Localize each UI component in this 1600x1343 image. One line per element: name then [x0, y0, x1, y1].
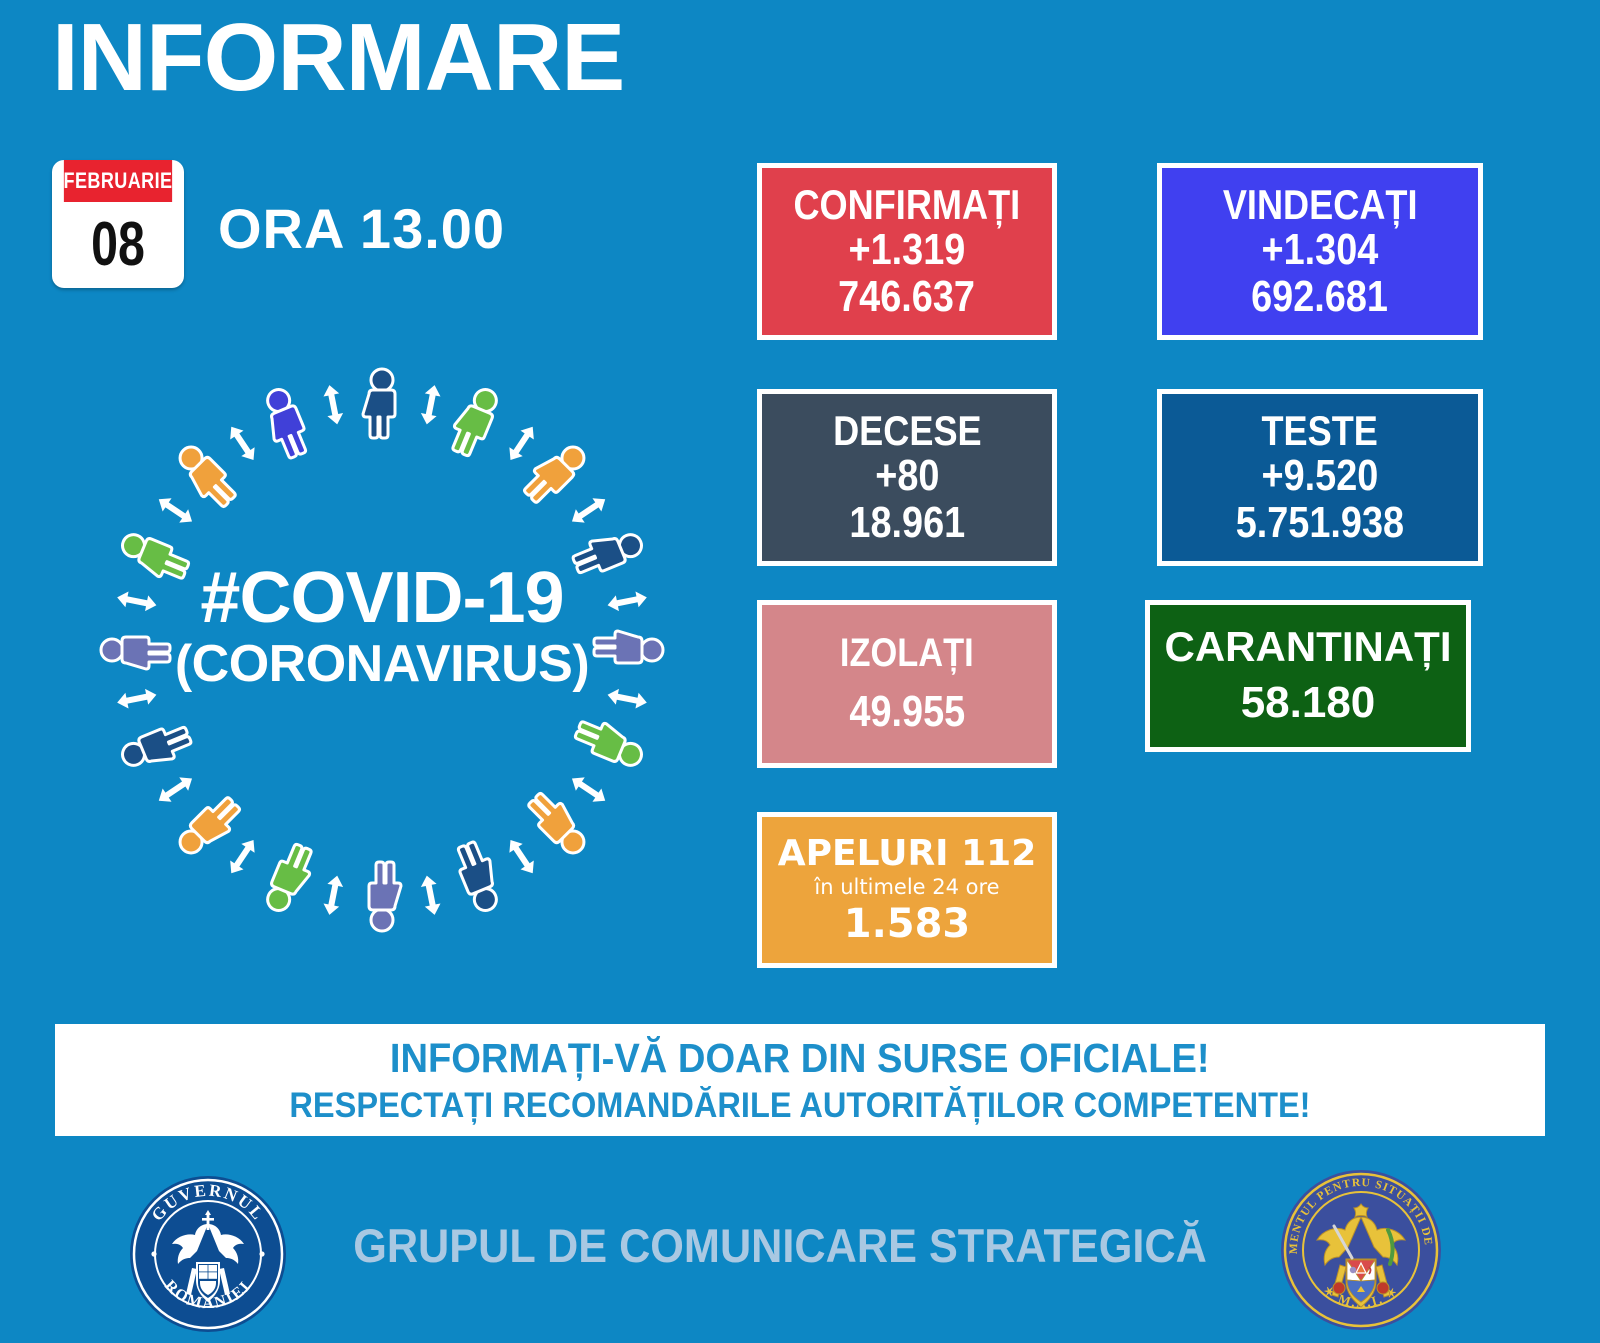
- infographic-page: INFORMARE FEBRUARIE 08 ORA 13.00: [0, 0, 1600, 1343]
- stat-total-apeluri: 1.583: [844, 903, 971, 945]
- stat-card-vindecati: VINDECAȚI +1.304 692.681: [1157, 163, 1483, 340]
- stat-card-carantinati: CARANTINAȚI 58.180: [1145, 600, 1471, 752]
- guvernul-romaniei-logo: GUVERNUL ROMÂNIEI: [128, 1174, 288, 1334]
- stat-total-teste: 5.751.938: [1236, 500, 1404, 547]
- hour-label: ORA 13.00: [218, 196, 505, 261]
- stat-card-izolati: IZOLAȚI 49.955: [757, 600, 1057, 768]
- people-circle-svg: [62, 330, 702, 970]
- stat-label-apeluri: APELURI 112: [778, 835, 1037, 873]
- page-title: INFORMARE: [52, 8, 624, 109]
- stat-card-apeluri: APELURI 112 în ultimele 24 ore 1.583: [757, 812, 1057, 968]
- covid-circle-graphic: #COVID-19 (CORONAVIRUS): [62, 330, 702, 970]
- stat-delta-confirmati: +1.319: [849, 227, 966, 274]
- stat-sublabel-apeluri: în ultimele 24 ore: [814, 876, 999, 898]
- stat-total-izolati: 49.955: [849, 689, 965, 736]
- stat-delta-teste: +9.520: [1262, 453, 1379, 500]
- stat-label-vindecati: VINDECAȚI: [1223, 183, 1418, 228]
- stat-delta-vindecati: +1.304: [1262, 227, 1379, 274]
- calendar-day: 08: [67, 202, 170, 288]
- stat-label-carantinati: CARANTINAȚI: [1165, 625, 1452, 670]
- advice-line-1: INFORMAȚI-VĂ DOAR DIN SURSE OFICIALE!: [390, 1035, 1210, 1082]
- advice-line-2: RESPECTAȚI RECOMANDĂRILE AUTORITĂȚILOR C…: [289, 1086, 1310, 1126]
- stat-card-decese: DECESE +80 18.961: [757, 389, 1057, 566]
- calendar-icon: FEBRUARIE 08: [52, 160, 184, 288]
- stat-total-vindecati: 692.681: [1252, 274, 1389, 321]
- stat-label-decese: DECESE: [833, 409, 982, 454]
- stat-label-teste: TESTE: [1262, 409, 1378, 454]
- stat-total-confirmati: 746.637: [839, 274, 976, 321]
- footer-organization: GRUPUL DE COMUNICARE STRATEGICĂ: [338, 1218, 1221, 1273]
- stat-card-confirmati: CONFIRMAȚI +1.319 746.637: [757, 163, 1057, 340]
- calendar-month: FEBRUARIE: [64, 160, 172, 202]
- stat-delta-decese: +80: [875, 453, 939, 500]
- stat-total-decese: 18.961: [849, 500, 965, 547]
- dsu-mai-logo: DEPARTAMENTUL PENTRU SITUAȚII DE URGENȚĂ…: [1278, 1160, 1444, 1336]
- stat-label-confirmati: CONFIRMAȚI: [794, 183, 1021, 228]
- stat-total-carantinati: 58.180: [1241, 680, 1376, 727]
- stat-card-teste: TESTE +9.520 5.751.938: [1157, 389, 1483, 566]
- advice-banner: INFORMAȚI-VĂ DOAR DIN SURSE OFICIALE! RE…: [55, 1024, 1545, 1136]
- stat-label-izolati: IZOLAȚI: [840, 632, 974, 674]
